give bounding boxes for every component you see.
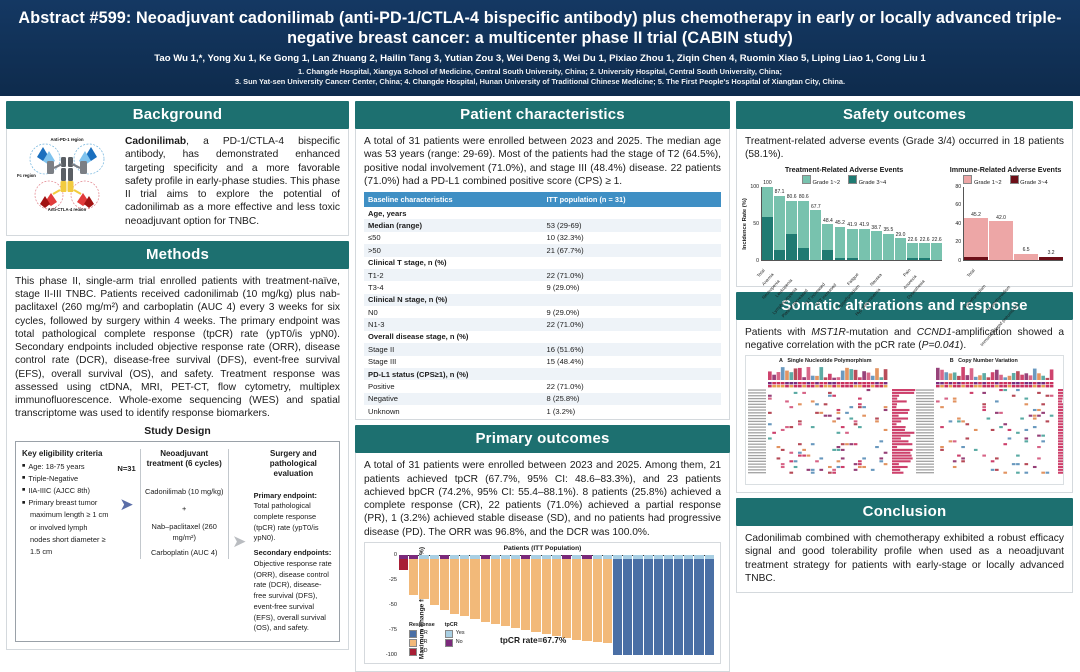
legend-swatch-grade34-dark bbox=[1010, 175, 1019, 184]
x-tick: Total bbox=[964, 261, 988, 279]
trae-chart: Treatment-Related Adverse Events Grade 1… bbox=[745, 165, 943, 279]
bar-column: 45.2 bbox=[964, 187, 988, 260]
figure-label-fc-region: Fc region bbox=[17, 173, 36, 178]
section-title-methods: Methods bbox=[6, 241, 349, 269]
bar-value-label: 45.2 bbox=[971, 212, 981, 218]
y-tick-label: 100 bbox=[750, 184, 759, 190]
response-bar bbox=[542, 559, 551, 634]
bar-column: 6.5 bbox=[1014, 187, 1038, 260]
cell-characteristic: N0 bbox=[364, 306, 543, 318]
response-bar bbox=[419, 559, 428, 599]
segment-grade-1-2 bbox=[798, 201, 809, 248]
section-conclusion: Conclusion Cadonilimab combined with che… bbox=[736, 498, 1073, 593]
cell-characteristic: Clinical T stage, n (%) bbox=[364, 257, 543, 269]
cell-value: 9 (29.0%) bbox=[543, 306, 722, 318]
segment-grade-3-4 bbox=[1039, 257, 1063, 260]
affiliation-line-2: 3. Sun Yat-sen University Cancer Center,… bbox=[16, 77, 1064, 87]
cell-value: 8 (25.8%) bbox=[543, 393, 722, 405]
legend-swatch-grade12 bbox=[802, 175, 811, 184]
irae-plot-area: 020406080 45.242.06.53.2 TotalHypothyroi… bbox=[947, 187, 1064, 279]
waterfall-y-axis-ticks: 0-25-50-75-100 bbox=[377, 555, 399, 655]
waterfall-bar bbox=[613, 555, 622, 655]
response-bar bbox=[562, 559, 571, 638]
table-row: Overall disease stage, n (%) bbox=[364, 331, 721, 343]
response-bar bbox=[623, 559, 632, 655]
bar-value-label: 6.5 bbox=[1023, 247, 1030, 253]
legend-swatch-cr bbox=[409, 630, 417, 638]
primary-endpoint-label: Primary endpoint: bbox=[254, 491, 317, 500]
y-tick-label: 0 bbox=[394, 552, 397, 558]
response-bar bbox=[552, 559, 561, 636]
legend-swatch-tpcr-yes bbox=[445, 630, 453, 638]
trae-bars: 10087.180.680.667.748.445.241.941.938.73… bbox=[762, 187, 942, 261]
bar-column: 22.6 bbox=[931, 187, 942, 260]
cell-value: 22 (71.0%) bbox=[543, 269, 722, 281]
section-somatic-alterations: Somatic alterations and response Patient… bbox=[736, 292, 1073, 494]
cell-value: 1 (3.2%) bbox=[543, 405, 722, 417]
patient-characteristics-text: A total of 31 patients were enrolled bet… bbox=[364, 135, 721, 188]
treatment-line: Carboplatin (AUC 4) bbox=[145, 548, 224, 559]
cell-value bbox=[543, 331, 722, 343]
cell-value: 10 (32.3%) bbox=[543, 232, 722, 244]
bar-column: 41.9 bbox=[859, 187, 870, 260]
response-bar bbox=[572, 559, 581, 640]
x-tick: Neutropenia bbox=[786, 261, 797, 279]
bar-value-label: 38.7 bbox=[871, 225, 881, 231]
bar-column: 38.7 bbox=[871, 187, 882, 260]
methods-text: This phase II, single-arm trial enrolled… bbox=[15, 275, 340, 421]
irae-y-axis: 020406080 bbox=[947, 187, 964, 261]
irae-legend: Grade 1~2 Grade 3~4 bbox=[947, 175, 1064, 186]
segment-grade-1-2 bbox=[919, 243, 930, 258]
segment-grade-3-4 bbox=[798, 248, 809, 260]
cell-characteristic: Positive bbox=[364, 380, 543, 392]
waterfall-bar bbox=[623, 555, 632, 655]
cell-value: 9 (29.0%) bbox=[543, 281, 722, 293]
legend-item: SD bbox=[409, 648, 435, 656]
eligibility-bullet: Primary breast tumor bbox=[22, 498, 114, 509]
bar-value-label: 41.9 bbox=[847, 222, 857, 228]
segment-grade-3-4 bbox=[822, 250, 833, 259]
poster-root: Abstract #599: Neoadjuvant cadonilimab (… bbox=[0, 0, 1080, 629]
x-tick-label: Total bbox=[966, 267, 976, 277]
response-bar bbox=[491, 559, 500, 624]
trae-x-axis-labels: TotalAnemiaNeutropeniaLeukopeniaLymphocy… bbox=[762, 261, 942, 279]
table-row: Positive22 (71.0%) bbox=[364, 380, 721, 392]
table-row: Age, years bbox=[364, 207, 721, 219]
legend-swatch-grade12-pink bbox=[963, 175, 972, 184]
response-bar bbox=[531, 559, 540, 632]
table-header-row: Baseline characteristics ITT population … bbox=[364, 192, 721, 207]
eligibility-bullet-cont: maximum length ≥ 1 cm bbox=[22, 510, 114, 521]
response-bar bbox=[511, 559, 520, 628]
legend-item: Grade 3~4 bbox=[848, 175, 886, 186]
column-left: Background Anti-PD-1 region bbox=[6, 101, 349, 625]
bar-value-label: 3.2 bbox=[1048, 250, 1055, 256]
arrow-right-icon-2: ➤ bbox=[231, 533, 248, 550]
response-bar bbox=[654, 559, 663, 655]
cell-characteristic: N1-3 bbox=[364, 318, 543, 330]
column-right: Safety outcomes Treatment-related advers… bbox=[736, 101, 1073, 625]
legend-label-yes: Yes bbox=[456, 630, 465, 637]
table-row: T1-222 (71.0%) bbox=[364, 269, 721, 281]
surgery-heading: Surgery and pathological evaluation bbox=[254, 449, 333, 479]
cell-value bbox=[543, 257, 722, 269]
y-tick-label: -75 bbox=[389, 627, 397, 633]
x-tick: Dysesthesia bbox=[931, 261, 942, 279]
response-bar bbox=[694, 559, 703, 655]
bar-value-label: 48.4 bbox=[823, 218, 833, 224]
segment-grade-1-2 bbox=[989, 221, 1013, 259]
response-bar bbox=[481, 559, 490, 622]
table-row: N1-322 (71.0%) bbox=[364, 318, 721, 330]
legend-swatch-tpcr-no bbox=[445, 639, 453, 647]
segment-grade-1-2 bbox=[895, 238, 906, 259]
table-row: Negative8 (25.8%) bbox=[364, 393, 721, 405]
waterfall-bar bbox=[481, 555, 490, 655]
bar-value-label: 42.0 bbox=[996, 215, 1006, 221]
response-bar bbox=[674, 559, 683, 655]
cell-characteristic: Stage II bbox=[364, 343, 543, 355]
response-bar bbox=[430, 559, 439, 605]
trae-plot-area: Incidence Rate (%) 050100 10087.180.680.… bbox=[745, 187, 943, 279]
segment-grade-1-2 bbox=[835, 227, 846, 259]
legend-group-tpcr: tpCR Yes No bbox=[445, 622, 465, 657]
cell-value: 53 (29-69) bbox=[543, 219, 722, 231]
segment-grade-3-4 bbox=[907, 258, 918, 259]
table-body: Age, yearsMedian (range)53 (29-69)≤5010 … bbox=[364, 207, 721, 417]
treatment-heading: Neoadjuvant treatment (6 cycles) bbox=[145, 449, 224, 469]
y-tick-label: 80 bbox=[955, 184, 961, 190]
response-bar bbox=[470, 559, 479, 619]
bar-value-label: 45.2 bbox=[835, 220, 845, 226]
segment-grade-1-2 bbox=[822, 224, 833, 250]
x-tick: Lymphocytopenia bbox=[810, 261, 821, 279]
legend-item: Grade 1~2 bbox=[802, 175, 840, 186]
table-row: Stage II16 (51.6%) bbox=[364, 343, 721, 355]
table-row: ≤5010 (32.3%) bbox=[364, 232, 721, 244]
y-tick-label: 0 bbox=[756, 258, 759, 264]
segment-grade-1-2 bbox=[883, 234, 894, 260]
waterfall-chart: Patients (ITT Population) Maximum change… bbox=[364, 542, 721, 664]
cell-value bbox=[543, 294, 722, 306]
study-design-title: Study Design bbox=[15, 426, 340, 437]
column-middle: Patient characteristics A total of 31 pa… bbox=[355, 101, 730, 625]
primary-endpoint-text: Total pathological complete response (tp… bbox=[254, 501, 333, 544]
response-bar bbox=[501, 559, 510, 626]
page-title: Abstract #599: Neoadjuvant cadonilimab (… bbox=[16, 8, 1064, 49]
segment-grade-3-4 bbox=[762, 217, 773, 259]
table-row: PD-L1 status (CPS≥1), n (%) bbox=[364, 368, 721, 380]
legend-label-pr: PR bbox=[420, 639, 428, 646]
eligibility-bullet-cont: nodes short diameter ≥ bbox=[22, 535, 114, 546]
bar-column: 87.1 bbox=[774, 187, 785, 260]
response-bar bbox=[440, 559, 449, 610]
eligibility-bullet-cont: or involved lymph bbox=[22, 523, 114, 534]
table-row: Stage III15 (48.4%) bbox=[364, 356, 721, 368]
eligibility-heading: Key eligibility criteria bbox=[22, 449, 114, 459]
cell-characteristic: >50 bbox=[364, 244, 543, 256]
section-primary-outcomes: Primary outcomes A total of 31 patients … bbox=[355, 425, 730, 672]
response-bar bbox=[705, 559, 714, 655]
section-background: Background Anti-PD-1 region bbox=[6, 101, 349, 236]
response-bar bbox=[613, 559, 622, 655]
safety-charts: Treatment-Related Adverse Events Grade 1… bbox=[745, 165, 1064, 279]
x-tick: Leukopenia bbox=[798, 261, 809, 279]
bar-column: 41.9 bbox=[847, 187, 858, 260]
cell-characteristic: PD-L1 status (CPS≥1), n (%) bbox=[364, 368, 543, 380]
legend-item: No bbox=[445, 639, 465, 647]
irae-chart: Immune-Related Adverse Events Grade 1~2 … bbox=[947, 165, 1064, 279]
conclusion-text: Cadonilimab combined with chemotherapy e… bbox=[745, 532, 1064, 585]
safety-text: Treatment-related adverse events (Grade … bbox=[745, 135, 1064, 162]
segment-grade-3-4 bbox=[964, 257, 988, 260]
response-bar bbox=[450, 559, 459, 614]
legend-swatch-pr bbox=[409, 639, 417, 647]
oncoprint-heatmap bbox=[746, 364, 1064, 476]
bar-value-label: 80.6 bbox=[787, 194, 797, 200]
somatic-text: Patients with MST1R-mutation and CCND1-a… bbox=[745, 326, 1064, 353]
waterfall-bar bbox=[572, 555, 581, 655]
waterfall-bar bbox=[664, 555, 673, 655]
response-bar bbox=[593, 559, 602, 643]
response-bar bbox=[582, 559, 591, 642]
section-title-patient-characteristics: Patient characteristics bbox=[355, 101, 730, 129]
bar-column: 42.0 bbox=[989, 187, 1013, 260]
gene-mst1r: MST1R bbox=[811, 327, 846, 338]
gene-ccnd1: CCND1 bbox=[917, 327, 952, 338]
bar-column: 48.4 bbox=[822, 187, 833, 260]
legend-title-tpcr: tpCR bbox=[445, 622, 465, 629]
cell-characteristic: Overall disease stage, n (%) bbox=[364, 331, 543, 343]
secondary-endpoint-label: Secondary endpoints: bbox=[254, 548, 332, 557]
legend-item: PR bbox=[409, 639, 435, 647]
cell-value: 22 (71.0%) bbox=[543, 318, 722, 330]
x-tick: ALT increased bbox=[835, 261, 846, 279]
study-design-diagram: Key eligibility criteria Age: 18-75 year… bbox=[15, 441, 340, 643]
background-body: , a PD-1/CTLA-4 bispecific antibody, has… bbox=[125, 136, 340, 227]
x-tick: Hypothyroidism bbox=[989, 261, 1013, 279]
poster-columns: Background Anti-PD-1 region bbox=[0, 96, 1080, 629]
segment-grade-1-2 bbox=[931, 243, 942, 259]
bar-column: 80.6 bbox=[786, 187, 797, 260]
waterfall-bar bbox=[582, 555, 591, 655]
irae-chart-title: Immune-Related Adverse Events bbox=[947, 165, 1064, 174]
primary-outcomes-text: A total of 31 patients were enrolled bet… bbox=[364, 459, 721, 539]
segment-grade-1-2 bbox=[847, 229, 858, 258]
legend-swatch-grade34 bbox=[848, 175, 857, 184]
eligibility-bullet-cont: 1.5 cm bbox=[22, 547, 114, 558]
y-tick-label: 50 bbox=[753, 221, 759, 227]
bar-value-label: 67.7 bbox=[811, 204, 821, 210]
bar-value-label: 29.0 bbox=[896, 232, 906, 238]
trae-y-axis: 050100 bbox=[745, 187, 762, 261]
response-bar bbox=[460, 559, 469, 617]
y-tick-label: -50 bbox=[389, 602, 397, 608]
treatment-line: Cadonilimab (10 mg/kg) bbox=[145, 487, 224, 498]
waterfall-bar bbox=[684, 555, 693, 655]
bar-column: 22.6 bbox=[907, 187, 918, 260]
waterfall-bar bbox=[694, 555, 703, 655]
response-bar bbox=[399, 559, 408, 571]
legend-item: Yes bbox=[445, 630, 465, 638]
bar-column: 80.6 bbox=[798, 187, 809, 260]
table-row: Clinical T stage, n (%) bbox=[364, 257, 721, 269]
segment-grade-3-4 bbox=[786, 234, 797, 260]
table-row: Median (range)53 (29-69) bbox=[364, 219, 721, 231]
response-bar bbox=[644, 559, 653, 655]
response-bar bbox=[684, 559, 693, 655]
cell-characteristic: Age, years bbox=[364, 207, 543, 219]
waterfall-bar bbox=[603, 555, 612, 655]
bar-value-label: 80.6 bbox=[799, 194, 809, 200]
waterfall-bar bbox=[399, 555, 408, 655]
x-tick: Fatigue bbox=[859, 261, 870, 279]
x-tick: Hyperthyroidism bbox=[1014, 261, 1038, 279]
affiliation-line-1: 1. Changde Hospital, Xiangya School of M… bbox=[16, 67, 1064, 77]
y-tick-label: 20 bbox=[955, 239, 961, 245]
enrollment-count: N=31 bbox=[116, 463, 138, 474]
legend-label-cr: CR bbox=[420, 630, 428, 637]
cell-characteristic: Clinical N stage, n (%) bbox=[364, 294, 543, 306]
section-methods: Methods This phase II, single-arm trial … bbox=[6, 241, 349, 650]
cell-characteristic: T1-2 bbox=[364, 269, 543, 281]
oncoprint-figure: A Single Nucleotide Polymorphism B Copy … bbox=[745, 355, 1064, 485]
legend-label-grade34: Grade 3~4 bbox=[1020, 180, 1048, 186]
legend-label-grade12: Grade 1~2 bbox=[812, 180, 840, 186]
bar-value-label: 35.5 bbox=[884, 227, 894, 233]
x-tick: Anemia bbox=[774, 261, 785, 279]
bar-value-label: 22.6 bbox=[932, 237, 942, 243]
legend-item: Grade 1~2 bbox=[963, 175, 1001, 186]
waterfall-bar bbox=[644, 555, 653, 655]
section-title-conclusion: Conclusion bbox=[736, 498, 1073, 526]
waterfall-legend: Response CR PR SD tpCR Yes No bbox=[409, 622, 465, 657]
waterfall-bar bbox=[633, 555, 642, 655]
segment-grade-3-4 bbox=[835, 258, 846, 259]
bar-value-label: 22.6 bbox=[920, 237, 930, 243]
legend-label-grade34: Grade 3~4 bbox=[859, 180, 887, 186]
bar-column: 67.7 bbox=[810, 187, 821, 260]
treatment-line: Nab–paclitaxel (260 mg/m²) bbox=[145, 522, 224, 543]
cell-value: 21 (67.7%) bbox=[543, 244, 722, 256]
bar-column: 35.5 bbox=[883, 187, 894, 260]
legend-swatch-sd bbox=[409, 648, 417, 656]
bar-column: 22.6 bbox=[919, 187, 930, 260]
waterfall-bar bbox=[654, 555, 663, 655]
waterfall-bar bbox=[593, 555, 602, 655]
legend-item: CR bbox=[409, 630, 435, 638]
y-tick-label: 0 bbox=[958, 258, 961, 264]
study-design-eligibility: Key eligibility criteria Age: 18-75 year… bbox=[22, 449, 114, 560]
trae-legend: Grade 1~2 Grade 3~4 bbox=[745, 175, 943, 186]
bar-value-label: 41.9 bbox=[859, 222, 869, 228]
waterfall-bar bbox=[705, 555, 714, 655]
eligibility-bullet: Age: 18-75 years bbox=[22, 462, 114, 473]
cell-value: 15 (48.4%) bbox=[543, 356, 722, 368]
segment-grade-1-2 bbox=[1014, 254, 1038, 260]
p-value: P=0.041 bbox=[922, 340, 960, 351]
table-row: N09 (29.0%) bbox=[364, 306, 721, 318]
legend-group-response: Response CR PR SD bbox=[409, 622, 435, 657]
table-row: Clinical N stage, n (%) bbox=[364, 294, 721, 306]
segment-grade-3-4 bbox=[847, 258, 858, 259]
legend-label-no: No bbox=[456, 639, 463, 646]
y-tick-label: -100 bbox=[386, 652, 397, 658]
section-title-safety-outcomes: Safety outcomes bbox=[736, 101, 1073, 129]
section-patient-characteristics: Patient characteristics A total of 31 pa… bbox=[355, 101, 730, 420]
poster-header: Abstract #599: Neoadjuvant cadonilimab (… bbox=[0, 0, 1080, 96]
bar-column: 29.0 bbox=[895, 187, 906, 260]
secondary-endpoint-text: Objective response rate (ORR), disease c… bbox=[254, 559, 333, 634]
column-header-characteristic: Baseline characteristics bbox=[364, 192, 543, 207]
table-row: >5021 (67.7%) bbox=[364, 244, 721, 256]
segment-grade-1-2 bbox=[871, 231, 882, 259]
cell-characteristic: ≤50 bbox=[364, 232, 543, 244]
x-tick: Nausea bbox=[883, 261, 894, 279]
cell-value: 16 (51.6%) bbox=[543, 343, 722, 355]
background-lead: Cadonilimab bbox=[125, 136, 186, 147]
y-tick-label: 60 bbox=[955, 202, 961, 208]
cell-characteristic: Unknown bbox=[364, 405, 543, 417]
bar-column: 3.2 bbox=[1039, 187, 1063, 260]
trae-chart-title: Treatment-Related Adverse Events bbox=[745, 165, 943, 174]
waterfall-bar bbox=[491, 555, 500, 655]
cell-characteristic: Stage III bbox=[364, 356, 543, 368]
cell-value: 22 (71.0%) bbox=[543, 380, 722, 392]
section-title-background: Background bbox=[6, 101, 349, 129]
x-tick: Anorexia bbox=[919, 261, 930, 279]
response-bar bbox=[409, 559, 418, 595]
waterfall-bar bbox=[674, 555, 683, 655]
tpcr-rate-annotation: tpCR rate=67.7% bbox=[500, 635, 566, 645]
section-safety-outcomes: Safety outcomes Treatment-related advers… bbox=[736, 101, 1073, 287]
cell-value bbox=[543, 368, 722, 380]
background-text: Cadonilimab, a PD-1/CTLA-4 bispecific an… bbox=[125, 135, 340, 228]
study-design-treatment: Neoadjuvant treatment (6 cycles) Cadonil… bbox=[140, 449, 229, 560]
segment-grade-1-2 bbox=[907, 243, 918, 258]
segment-grade-1-2 bbox=[859, 229, 870, 260]
response-bar bbox=[664, 559, 673, 655]
y-tick-label: -25 bbox=[389, 577, 397, 583]
bispecific-antibody-diagram: Anti-PD-1 region bbox=[15, 135, 119, 216]
eligibility-bullet: Triple-Negative bbox=[22, 474, 114, 485]
column-header-itt: ITT population (n = 31) bbox=[543, 192, 722, 207]
response-bar bbox=[633, 559, 642, 655]
segment-grade-1-2 bbox=[810, 210, 821, 259]
legend-title-response: Response bbox=[409, 622, 435, 629]
segment-grade-3-4 bbox=[919, 258, 930, 259]
table-row: Unknown1 (3.2%) bbox=[364, 405, 721, 417]
legend-label-grade12: Grade 1~2 bbox=[974, 180, 1002, 186]
study-design-outcomes: Surgery and pathological evaluation Prim… bbox=[250, 449, 333, 635]
figure-label-anti-ctla4: Anti-CTLA-4 region bbox=[48, 207, 87, 211]
response-bar bbox=[603, 559, 612, 643]
table-row: T3-49 (29.0%) bbox=[364, 281, 721, 293]
irae-bars: 45.242.06.53.2 bbox=[964, 187, 1063, 261]
author-list: Tao Wu 1,*, Yong Xu 1, Ke Gong 1, Lan Zh… bbox=[16, 53, 1064, 65]
cell-characteristic: T3-4 bbox=[364, 281, 543, 293]
waterfall-bar bbox=[470, 555, 479, 655]
bar-value-label: 87.1 bbox=[775, 189, 785, 195]
bar-column: 45.2 bbox=[835, 187, 846, 260]
bar-value-label: 100 bbox=[763, 180, 771, 186]
y-tick-label: 40 bbox=[955, 221, 961, 227]
arrow-right-icon: ➤ bbox=[116, 496, 138, 513]
segment-grade-1-2 bbox=[964, 218, 988, 256]
segment-grade-3-4 bbox=[774, 250, 785, 259]
segment-grade-1-2 bbox=[762, 187, 773, 218]
